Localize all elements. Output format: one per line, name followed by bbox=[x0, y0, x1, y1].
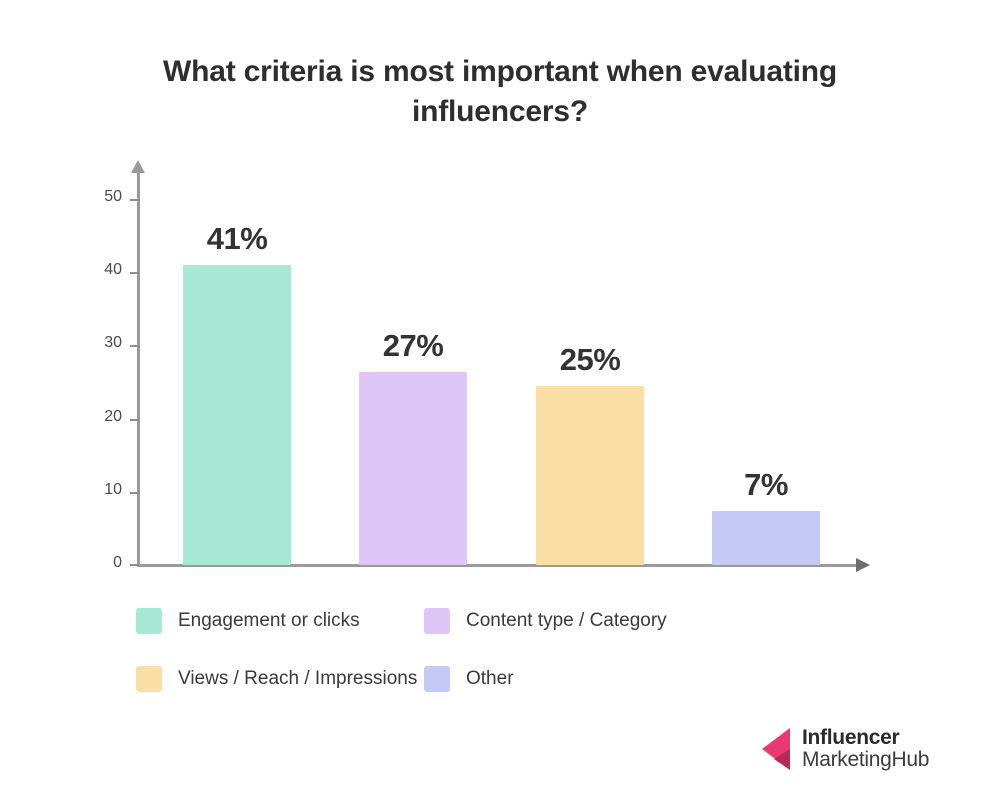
logo-triangle-icon bbox=[760, 726, 802, 772]
legend-item-content-type-category[interactable]: Content type / Category bbox=[424, 608, 667, 634]
bar-value-label: 27% bbox=[359, 328, 467, 364]
bar-views-reach-impressions[interactable] bbox=[536, 386, 644, 565]
legend-label: Other bbox=[466, 668, 514, 690]
legend-item-other[interactable]: Other bbox=[424, 666, 514, 692]
legend-row-1: Engagement or clicks Content type / Cate… bbox=[136, 608, 776, 666]
chart-page: What criteria is most important when eva… bbox=[0, 0, 1000, 810]
legend-swatch-icon bbox=[136, 608, 162, 634]
bar-value-label: 25% bbox=[536, 342, 644, 378]
legend-swatch-icon bbox=[136, 666, 162, 692]
bar-other[interactable] bbox=[712, 511, 820, 565]
legend-item-engagement-or-clicks[interactable]: Engagement or clicks bbox=[136, 608, 360, 634]
bar-series: 41%27%25%7% bbox=[0, 0, 1000, 566]
legend-item-views-reach-impressions[interactable]: Views / Reach / Impressions bbox=[136, 666, 417, 692]
plot-area: 50 40 30 20 10 0 41%27%25%7% bbox=[0, 0, 1000, 600]
bar-content-type-category[interactable] bbox=[359, 372, 467, 565]
legend-swatch-icon bbox=[424, 608, 450, 634]
brand-logo[interactable]: Influencer MarketingHub bbox=[760, 726, 929, 772]
logo-wordmark: Influencer MarketingHub bbox=[802, 727, 929, 771]
logo-line-2: MarketingHub bbox=[802, 749, 929, 771]
legend-row-2: Views / Reach / Impressions Other bbox=[136, 666, 776, 724]
legend-swatch-icon bbox=[424, 666, 450, 692]
legend-label: Engagement or clicks bbox=[178, 610, 360, 632]
logo-line-1: Influencer bbox=[802, 727, 929, 749]
bar-engagement-or-clicks[interactable] bbox=[183, 265, 291, 565]
legend-label: Content type / Category bbox=[466, 610, 667, 632]
bar-value-label: 7% bbox=[712, 467, 820, 503]
legend: Engagement or clicks Content type / Cate… bbox=[136, 608, 776, 724]
legend-label: Views / Reach / Impressions bbox=[178, 668, 417, 690]
bar-value-label: 41% bbox=[183, 221, 291, 257]
